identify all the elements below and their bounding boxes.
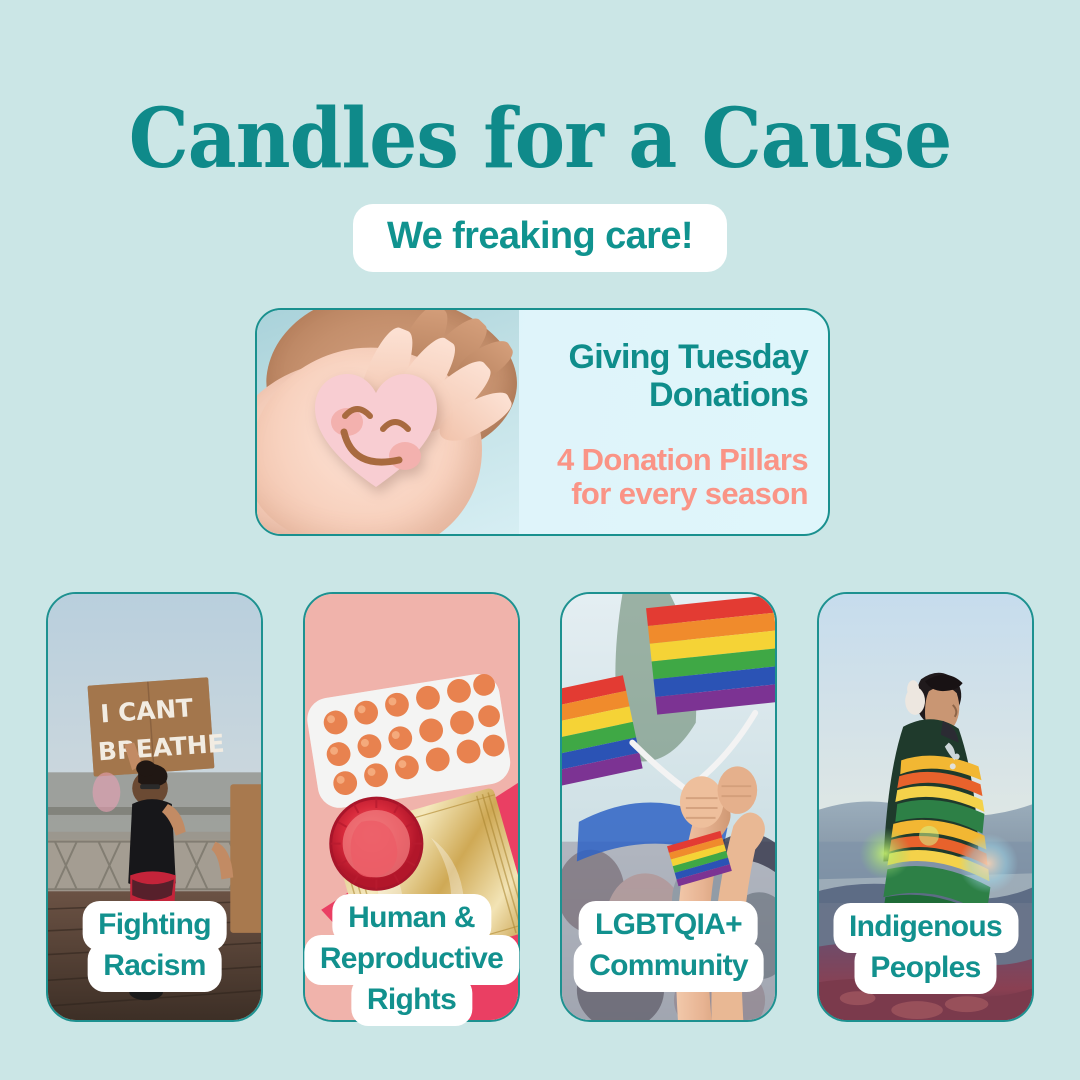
hands-holding-heart-image — [257, 310, 519, 534]
pillar-card-grid: I CANT BREATHE — [46, 592, 1034, 1024]
protest-photo: I CANT BREATHE — [48, 594, 261, 1020]
subtitle-badge: We freaking care! — [353, 204, 727, 272]
smiling-heart-icon — [313, 372, 439, 490]
giving-tuesday-banner[interactable]: Giving Tuesday Donations 4 Donation Pill… — [255, 308, 830, 536]
pillar-card-fighting-racism[interactable]: I CANT BREATHE — [46, 592, 263, 1022]
banner-subheading: 4 Donation Pillars for every season — [523, 443, 808, 520]
poster-canvas: Candles for a Cause We freaking care! — [0, 0, 1080, 1080]
banner-heading: Giving Tuesday Donations — [523, 326, 808, 414]
subtitle-badge-wrapper: We freaking care! — [0, 204, 1080, 272]
banner-sub-line-2: for every season — [523, 477, 808, 512]
pillar-card-lgbtqia-community[interactable]: LGBTQIA+ Community — [560, 592, 777, 1022]
indigenous-woman-photo — [819, 594, 1032, 1020]
banner-heading-line-2: Donations — [523, 376, 808, 414]
pillar-card-human-reproductive-rights[interactable]: Human & Reproductive Rights — [303, 592, 520, 1022]
banner-heading-line-1: Giving Tuesday — [523, 338, 808, 376]
pillar-card-indigenous-peoples[interactable]: Indigenous Peoples — [817, 592, 1034, 1022]
banner-sub-line-1: 4 Donation Pillars — [523, 443, 808, 478]
contraception-photo — [305, 594, 518, 1020]
page-title: Candles for a Cause — [43, 98, 1037, 180]
pride-flags-photo — [562, 594, 775, 1020]
banner-text-block: Giving Tuesday Donations 4 Donation Pill… — [519, 310, 828, 534]
